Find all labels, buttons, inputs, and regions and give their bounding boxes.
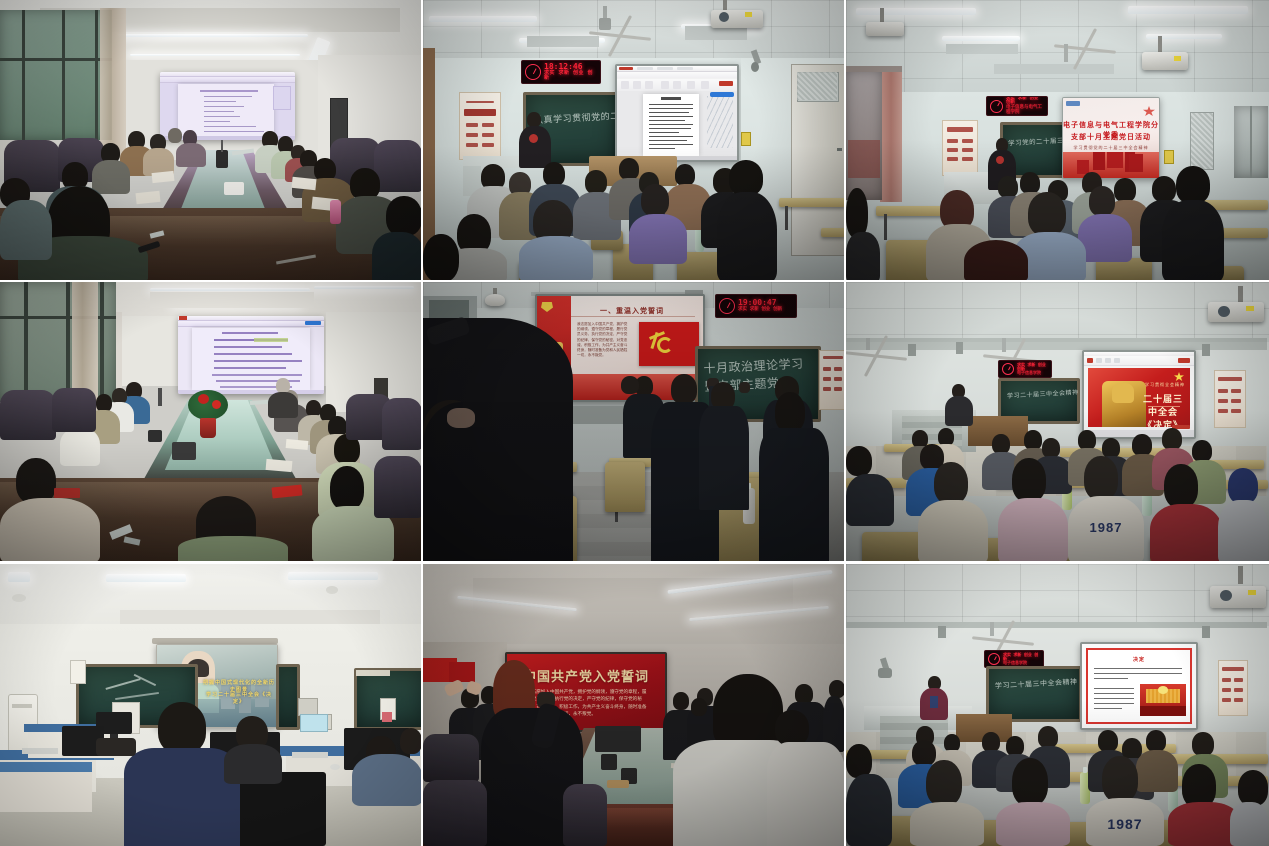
ceiling-fan (1046, 36, 1124, 62)
clock-icon (1002, 363, 1014, 375)
slide-title: 二十届三中全会《决定》 (1140, 392, 1186, 427)
led-slogan: 求实 求新 创业 创新 (738, 308, 782, 313)
photo-tile-bottom-right[interactable]: 求实 求新 创业 创新 电子信息学院 学习二十届三中全会精神 决定 (846, 564, 1269, 846)
video-caption-line2: 学习二十届三中全会《决定》 (203, 691, 275, 705)
photo-tile-middle-center[interactable]: 一、重温入党誓词 我志愿加入中国共产党，拥护党的纲领，遵守党的章程，履行党员义务… (423, 282, 844, 561)
clock-icon (719, 298, 735, 314)
flower-vase (188, 390, 228, 420)
presentation-screen: 学习贯彻全会精神 二十届三中全会《决定》 (1082, 350, 1196, 439)
led-display-board: 19:00:47 求实 求新 创业 创新 (715, 294, 797, 318)
photo-tile-top-center[interactable]: 18:12:46 求实 求新 创业 创新 认真学习贯彻党的二十届三中全会精神 (423, 0, 844, 280)
led-display-board: 求实 求新 创业 创新 电子信息学院 (998, 360, 1052, 378)
ceiling-fan (846, 346, 906, 366)
photo-tile-top-right[interactable]: 求实 求新 创业 创新 电子信息与电气工程学院 学习党的二十届三中全会精神 (846, 0, 1269, 280)
clock-icon (990, 100, 1003, 113)
camera-dome (485, 294, 505, 306)
led-slogan: 求实 求新 创业 创新 (544, 71, 597, 82)
wall-poster (819, 350, 844, 410)
photo-tile-bottom-left[interactable]: 把握中国式现代化的全新历史图景 学习二十届三中全会《决定》 (0, 564, 421, 846)
cpc-flag (639, 322, 699, 366)
wall-poster (1218, 660, 1248, 716)
wall-poster (942, 120, 978, 176)
person-foreground-right (713, 674, 783, 748)
slide-subtitle: 学习贯彻全会精神 (1144, 382, 1186, 388)
slide-title-line2: 支部十月主题党日活动 (1063, 132, 1159, 142)
thermos (330, 200, 341, 224)
projector (1210, 586, 1266, 608)
slide-body: 我志愿加入中国共产党，拥护党的纲领，遵守党的章程，履行党员义务，执行党的决定，严… (577, 322, 629, 358)
photo-tile-middle-right[interactable]: 求实 求新 创业 创新 电子信息学院 学习二十届三中全会精神 (846, 282, 1269, 561)
presenter (527, 112, 541, 127)
blackboard-text: 学习二十届三中全会精神 (1007, 387, 1079, 400)
slide-subtitle: 学习贯彻党的二十届三中全会精神 (1063, 145, 1159, 151)
photo-tile-top-left[interactable]: conference-room-meeting (0, 0, 421, 280)
slide-photo (1140, 684, 1186, 716)
clock-icon (525, 64, 541, 80)
wall-poster (1214, 370, 1246, 428)
window (0, 282, 116, 402)
curtain (880, 68, 902, 202)
ceiling-fan (970, 630, 1036, 652)
chalkboard-right (276, 664, 300, 730)
photo-tile-bottom-center[interactable]: 中国共产党入党誓词 我志愿加入中国共产党，拥护党的纲领，遵守党的章程，履行党员义… (423, 564, 844, 846)
projection-screen: 电子信息与电气工程学院分党委 支部十月主题党日活动 学习贯彻党的二十届三中全会精… (1062, 97, 1160, 179)
slide-heading: 一、重温入党誓词 (567, 306, 697, 316)
ceiling-fan (583, 24, 657, 48)
slide-title: 决定 (1082, 656, 1196, 663)
wall-poster (459, 92, 501, 160)
photo-collage: conference-room-meeting (0, 0, 1269, 846)
presentation-screen (615, 64, 739, 162)
projector-2 (1142, 52, 1188, 70)
clock-icon (988, 653, 1000, 665)
led-display-board: 求实 求新 创业 创新 电子信息与电气工程学院 (986, 96, 1048, 116)
blackboard-text: 学习二十届三中全会精神 (995, 677, 1078, 691)
photo-tile-middle-left[interactable]: conference-room-study-session (0, 282, 421, 561)
projector (866, 22, 904, 36)
presentation-screen (178, 316, 324, 394)
projection-screen: 决定 (1080, 642, 1198, 730)
led-display-board: 18:12:46 求实 求新 创业 创新 (521, 60, 601, 84)
projector (1208, 302, 1264, 322)
person-foreground (158, 702, 206, 754)
